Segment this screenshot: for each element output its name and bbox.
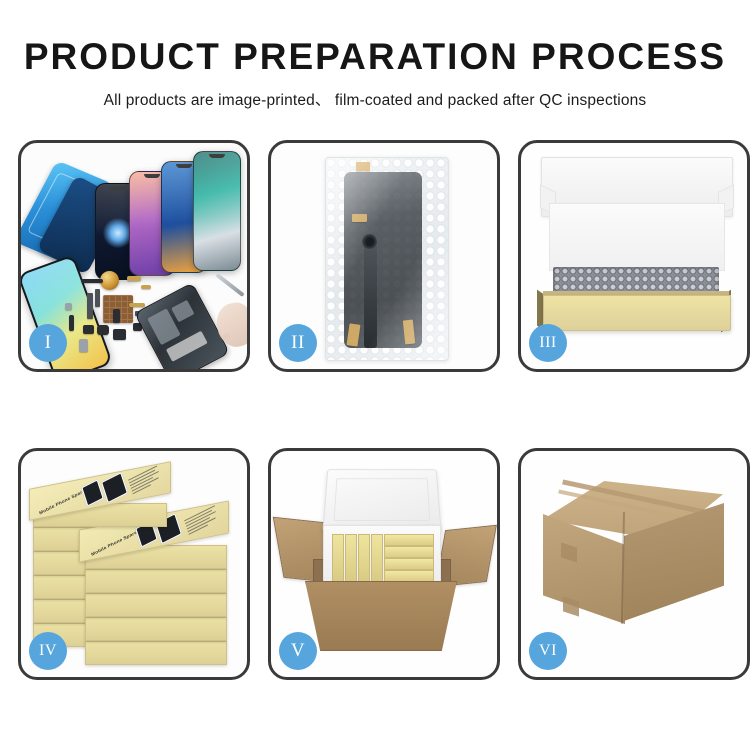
foam-box <box>323 525 441 589</box>
step-panel-5: V <box>268 448 500 680</box>
spare-part <box>65 303 72 310</box>
spare-part <box>95 289 100 307</box>
spare-part <box>69 315 74 331</box>
step-badge-5: V <box>279 632 317 670</box>
step-panel-2: II <box>268 140 500 372</box>
header: PRODUCT PREPARATION PROCESS All products… <box>0 38 750 110</box>
steps-grid: I II <box>18 140 732 688</box>
box-inner-wall <box>549 203 725 271</box>
step-panel-6: VI <box>518 448 750 680</box>
stacked-box <box>85 617 227 641</box>
yellow-box-item <box>384 570 434 582</box>
step-panel-4: Mobile Phone Spare Parts Mobile Phone Sp… <box>18 448 250 680</box>
bag-highlight <box>326 158 448 360</box>
stacked-box <box>85 593 227 617</box>
foam-box-lid <box>322 469 441 531</box>
product-preparation-infographic: PRODUCT PREPARATION PROCESS All products… <box>0 0 750 750</box>
yellow-box-item <box>358 534 370 582</box>
step-badge-1: I <box>29 324 67 362</box>
spare-part <box>113 309 120 323</box>
box-label-lines <box>128 464 166 496</box>
spare-part <box>97 325 109 335</box>
stacked-box <box>85 569 227 593</box>
spare-part <box>83 325 94 334</box>
step-badge-2: II <box>279 324 317 362</box>
subtitle-part-2: film-coated and packed after QC inspecti… <box>330 92 646 109</box>
repair-tool-icon <box>215 273 244 297</box>
step-panel-1: I <box>18 140 250 372</box>
stacked-box <box>85 641 227 665</box>
bubble-wrap-bag <box>325 157 449 361</box>
page-title: PRODUCT PREPARATION PROCESS <box>0 38 750 77</box>
yellow-box-item <box>371 534 383 582</box>
phone-back-internals <box>134 282 230 369</box>
yellow-box-item <box>384 558 434 570</box>
box-phone-graphic <box>101 472 128 503</box>
spare-part <box>113 329 126 340</box>
carton-body <box>305 581 457 651</box>
yellow-box-item <box>384 534 434 546</box>
step-badge-4: IV <box>29 632 67 670</box>
box-label-lines <box>184 504 222 536</box>
yellow-box-item <box>384 546 434 558</box>
yellow-box-item <box>332 534 344 582</box>
yellow-box-item <box>345 534 357 582</box>
box-phone-graphic <box>81 479 103 506</box>
spare-part <box>127 276 141 281</box>
phone-screen-4 <box>193 151 241 271</box>
box-front-panel <box>543 295 731 331</box>
spare-part <box>87 293 93 319</box>
subtitle-part-1: All products are image-printed <box>104 92 315 109</box>
spare-part <box>79 339 88 352</box>
spare-part <box>141 285 151 289</box>
step-badge-6: VI <box>529 632 567 670</box>
spare-part <box>129 303 145 307</box>
page-subtitle: All products are image-printed、 film-coa… <box>0 88 750 110</box>
step-panel-3: III <box>518 140 750 372</box>
spare-part <box>81 279 103 283</box>
subtitle-comma: 、 <box>315 91 331 109</box>
step-badge-3: III <box>529 324 567 362</box>
